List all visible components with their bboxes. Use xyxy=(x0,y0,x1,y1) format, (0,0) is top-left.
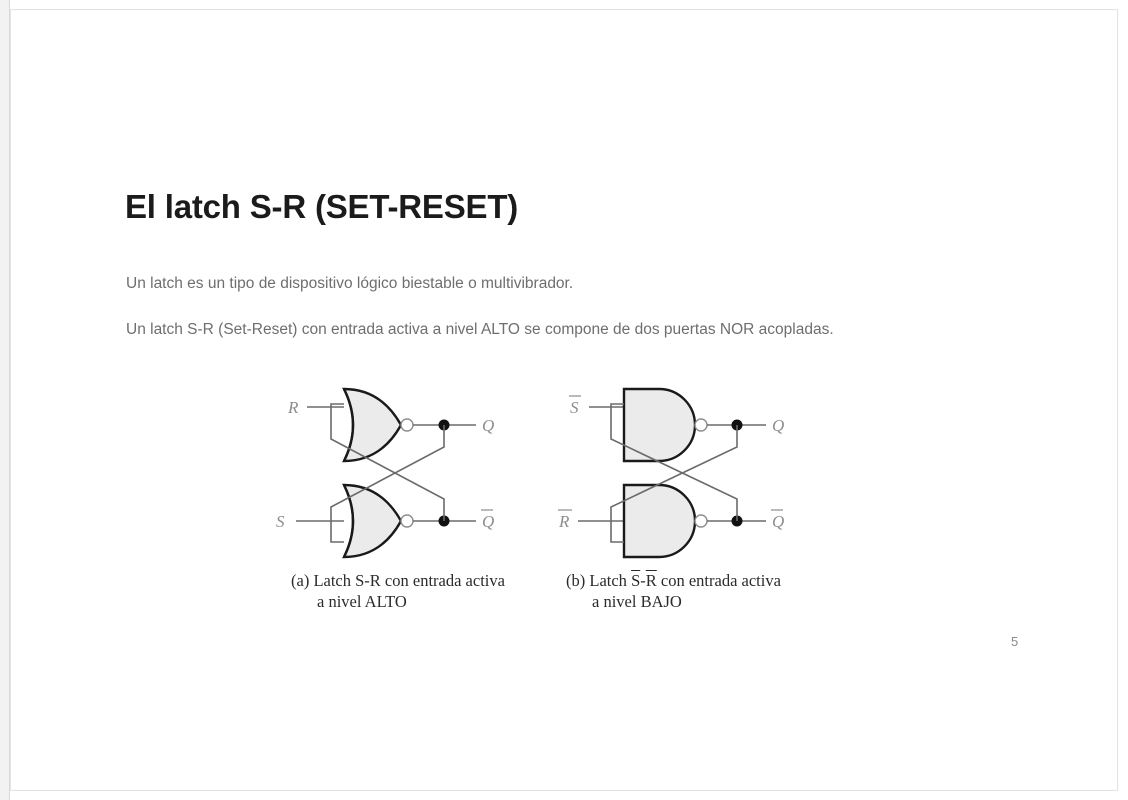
panel-b-nand-latch: S R Q Q xyxy=(558,389,784,557)
label-output-q-a: Q xyxy=(482,416,494,435)
caption-a-line-1: (a) Latch S-R con entrada activa xyxy=(291,571,505,590)
body-paragraph-1: Un latch es un tipo de dispositivo lógic… xyxy=(126,275,573,293)
panel-a-nor-latch: R S Q Q xyxy=(276,389,494,557)
bubble-nand-bottom xyxy=(695,515,707,527)
label-output-qbar-b: Q xyxy=(772,512,784,531)
caption-b-line-2: a nivel BAJO xyxy=(566,591,781,612)
caption-panel-b: (b) Latch S-R con entrada activa a nivel… xyxy=(566,570,781,612)
caption-b-prefix: (b) Latch xyxy=(566,571,631,590)
label-input-sbar: S xyxy=(570,398,579,417)
bubble-nor-top xyxy=(401,419,413,431)
label-input-s: S xyxy=(276,512,285,531)
caption-a-line-2: a nivel ALTO xyxy=(291,591,505,612)
caption-b-suffix: con entrada activa xyxy=(657,571,781,590)
bubble-nor-bottom xyxy=(401,515,413,527)
label-output-qbar-a: Q xyxy=(482,512,494,531)
latch-figure: .wire { stroke: #6b6b6b; stroke-width: 1… xyxy=(276,382,836,617)
caption-b-s-bar: S xyxy=(631,571,640,590)
viewer-left-gutter xyxy=(0,0,10,800)
body-paragraph-2: Un latch S-R (Set-Reset) con entrada act… xyxy=(126,321,834,339)
bubble-nand-top xyxy=(695,419,707,431)
slide-page: El latch S-R (SET-RESET) Un latch es un … xyxy=(10,9,1118,791)
slide-viewer: El latch S-R (SET-RESET) Un latch es un … xyxy=(0,0,1128,800)
caption-b-r-bar: R xyxy=(646,571,657,590)
label-input-r: R xyxy=(287,398,299,417)
page-title: El latch S-R (SET-RESET) xyxy=(125,188,518,226)
label-output-q-b: Q xyxy=(772,416,784,435)
caption-b-line-1: (b) Latch S-R con entrada activa xyxy=(566,571,781,590)
label-input-rbar: R xyxy=(558,512,570,531)
latch-circuit-diagrams: .wire { stroke: #6b6b6b; stroke-width: 1… xyxy=(276,382,836,567)
caption-panel-a: (a) Latch S-R con entrada activa a nivel… xyxy=(291,570,505,612)
page-number: 5 xyxy=(1011,634,1018,649)
